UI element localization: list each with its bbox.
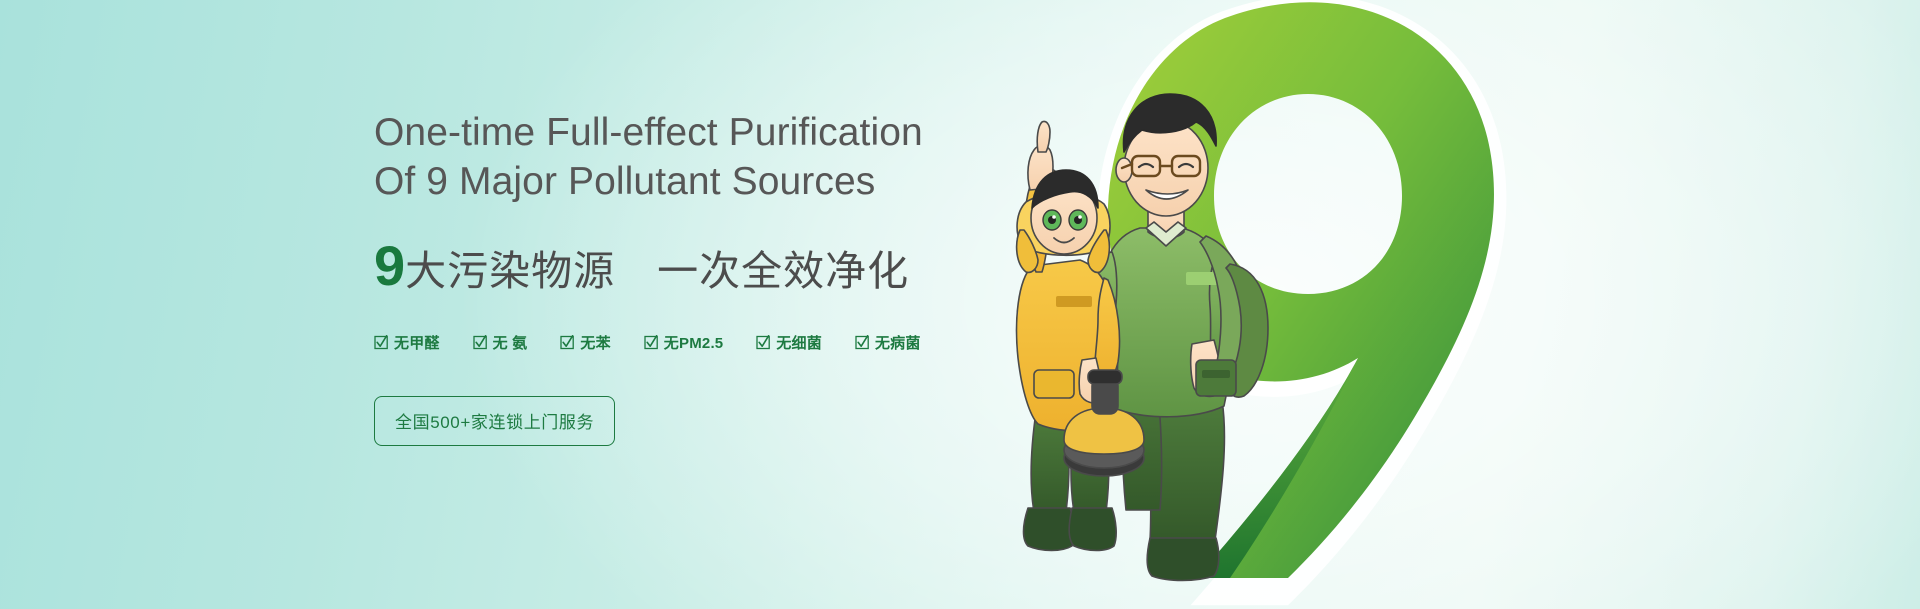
feature-badge: 无细菌	[756, 332, 822, 353]
checkbox-tick-icon	[473, 335, 488, 350]
nationwide-service-button[interactable]: 全国500+家连锁上门服务	[374, 396, 615, 446]
headline-cn: 9 大污染物源 一次全效净化	[374, 238, 1074, 294]
banner-copy: One-time Full-effect Purification Of 9 M…	[374, 108, 1074, 446]
feature-badge: 无PM2.5	[644, 332, 724, 353]
checkbox-tick-icon	[855, 335, 870, 350]
feature-badge: 无 氨	[473, 332, 528, 353]
feature-badge: 无苯	[560, 332, 610, 353]
checkbox-tick-icon	[560, 335, 575, 350]
headline-cn-number: 9	[374, 238, 404, 294]
feature-badge-label: 无细菌	[776, 332, 822, 353]
feature-badge-label: 无甲醛	[394, 332, 440, 353]
feature-badge-list: 无甲醛 无 氨 无苯	[374, 332, 1074, 353]
feature-badge-label: 无PM2.5	[664, 332, 724, 353]
feature-badge: 无甲醛	[374, 332, 440, 353]
checkbox-tick-icon	[756, 335, 771, 350]
feature-badge-label: 无苯	[580, 332, 610, 353]
checkbox-tick-icon	[374, 335, 389, 350]
headline-en-line1: One-time Full-effect Purification	[374, 108, 1074, 157]
promo-banner: One-time Full-effect Purification Of 9 M…	[0, 0, 1920, 609]
feature-badge-label: 无病菌	[875, 332, 921, 353]
feature-badge: 无病菌	[855, 332, 921, 353]
feature-badge-label: 无 氨	[493, 332, 528, 353]
headline-cn-text: 大污染物源 一次全效净化	[405, 251, 909, 292]
headline-en-line2: Of 9 Major Pollutant Sources	[374, 157, 1074, 206]
checkbox-tick-icon	[644, 335, 659, 350]
